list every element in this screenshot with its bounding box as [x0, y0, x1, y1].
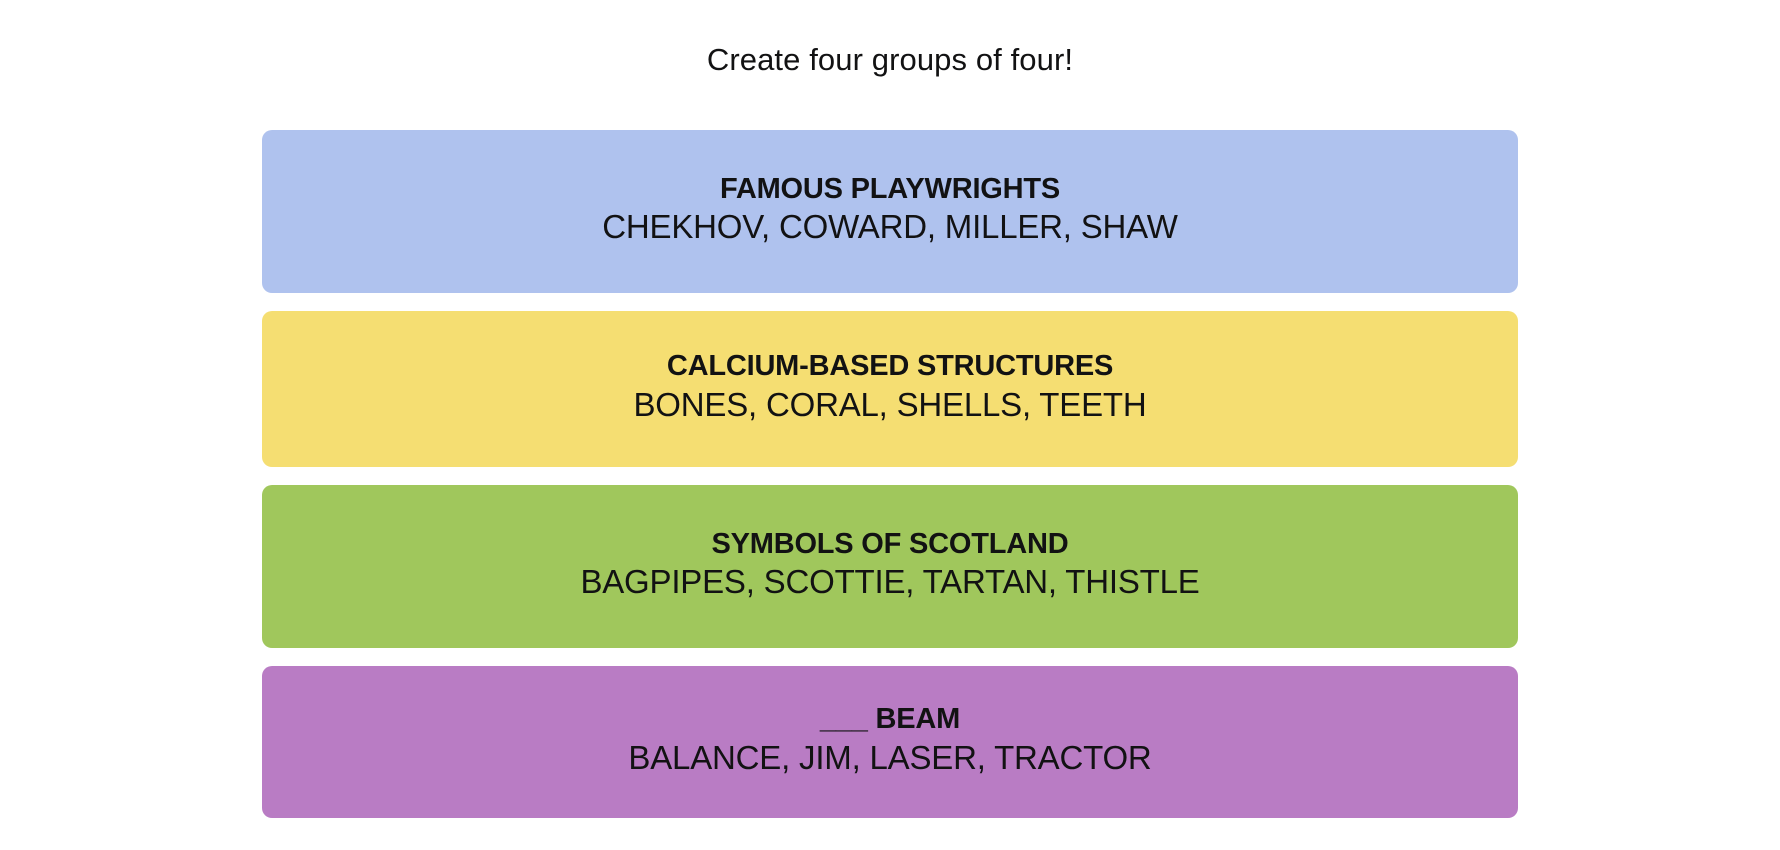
group-members: CHEKHOV, COWARD, MILLER, SHAW: [602, 208, 1177, 247]
group-card-yellow[interactable]: CALCIUM-BASED STRUCTURES BONES, CORAL, S…: [262, 311, 1518, 467]
group-card-green[interactable]: SYMBOLS OF SCOTLAND BAGPIPES, SCOTTIE, T…: [262, 485, 1518, 648]
group-members: BAGPIPES, SCOTTIE, TARTAN, THISTLE: [580, 563, 1199, 602]
connections-board-page: Create four groups of four! FAMOUS PLAYW…: [0, 0, 1780, 850]
group-members: BALANCE, JIM, LASER, TRACTOR: [628, 739, 1151, 778]
group-card-blue[interactable]: FAMOUS PLAYWRIGHTS CHEKHOV, COWARD, MILL…: [262, 130, 1518, 293]
solved-groups-list: FAMOUS PLAYWRIGHTS CHEKHOV, COWARD, MILL…: [262, 130, 1518, 818]
page-title: Create four groups of four!: [0, 44, 1780, 75]
group-members: BONES, CORAL, SHELLS, TEETH: [634, 386, 1147, 425]
group-name: FAMOUS PLAYWRIGHTS: [720, 172, 1060, 206]
group-name: ___ BEAM: [820, 702, 960, 736]
group-card-purple[interactable]: ___ BEAM BALANCE, JIM, LASER, TRACTOR: [262, 666, 1518, 818]
group-name: SYMBOLS OF SCOTLAND: [711, 527, 1068, 561]
group-name: CALCIUM-BASED STRUCTURES: [667, 349, 1113, 383]
